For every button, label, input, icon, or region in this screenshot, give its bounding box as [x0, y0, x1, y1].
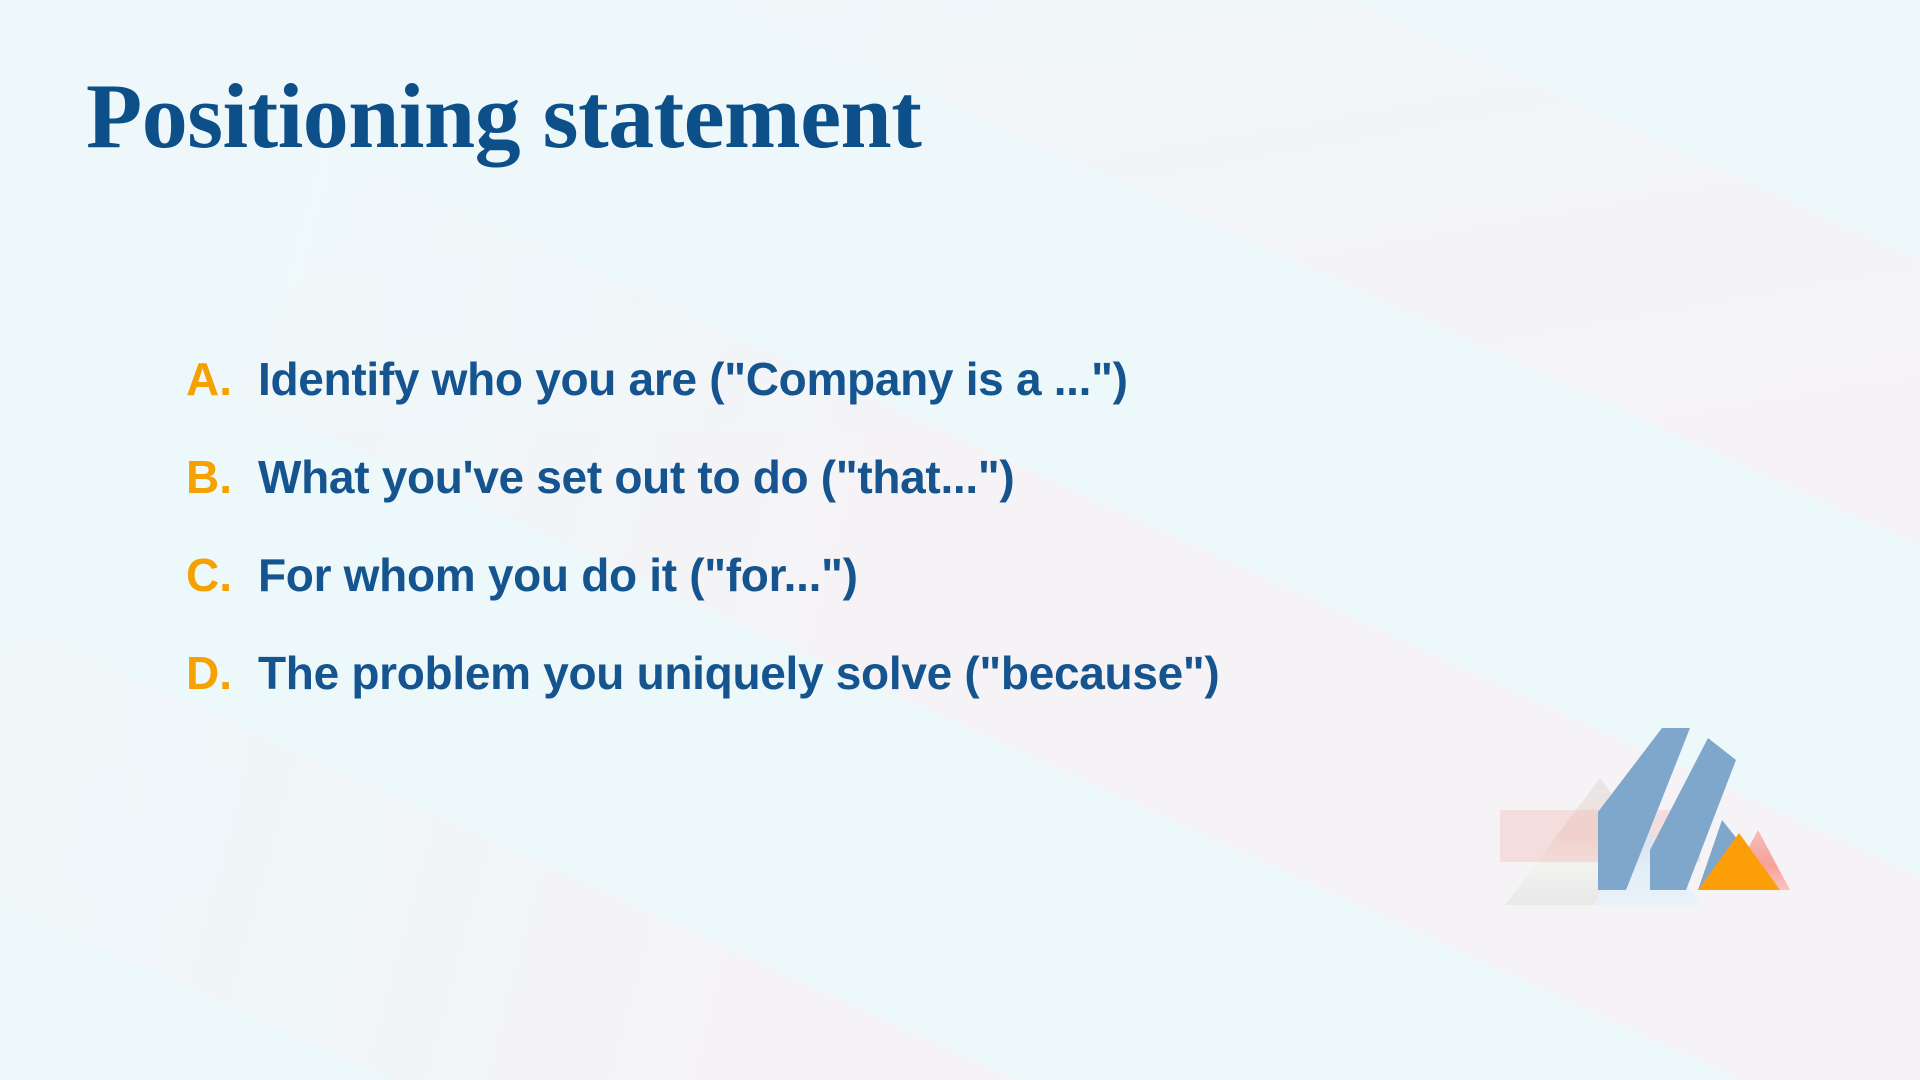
list-text-a: Identify who you are ("Company is a ..."… [258, 352, 1128, 406]
slide-title: Positioning statement [86, 68, 921, 165]
list-item: D. The problem you uniquely solve ("beca… [186, 646, 1666, 700]
slide-canvas: Positioning statement A. Identify who yo… [0, 0, 1920, 1080]
list-marker-d: D. [186, 646, 258, 700]
positioning-list: A. Identify who you are ("Company is a .… [186, 352, 1666, 700]
list-marker-b: B. [186, 450, 258, 504]
list-text-b: What you've set out to do ("that...") [258, 450, 1014, 504]
list-item: C. For whom you do it ("for...") [186, 548, 1666, 602]
list-item: A. Identify who you are ("Company is a .… [186, 352, 1666, 406]
list-marker-c: C. [186, 548, 258, 602]
list-text-d: The problem you uniquely solve ("because… [258, 646, 1219, 700]
list-item: B. What you've set out to do ("that...") [186, 450, 1666, 504]
list-text-c: For whom you do it ("for...") [258, 548, 858, 602]
list-marker-a: A. [186, 352, 258, 406]
mountain-bars-logo-icon [1490, 700, 1790, 940]
